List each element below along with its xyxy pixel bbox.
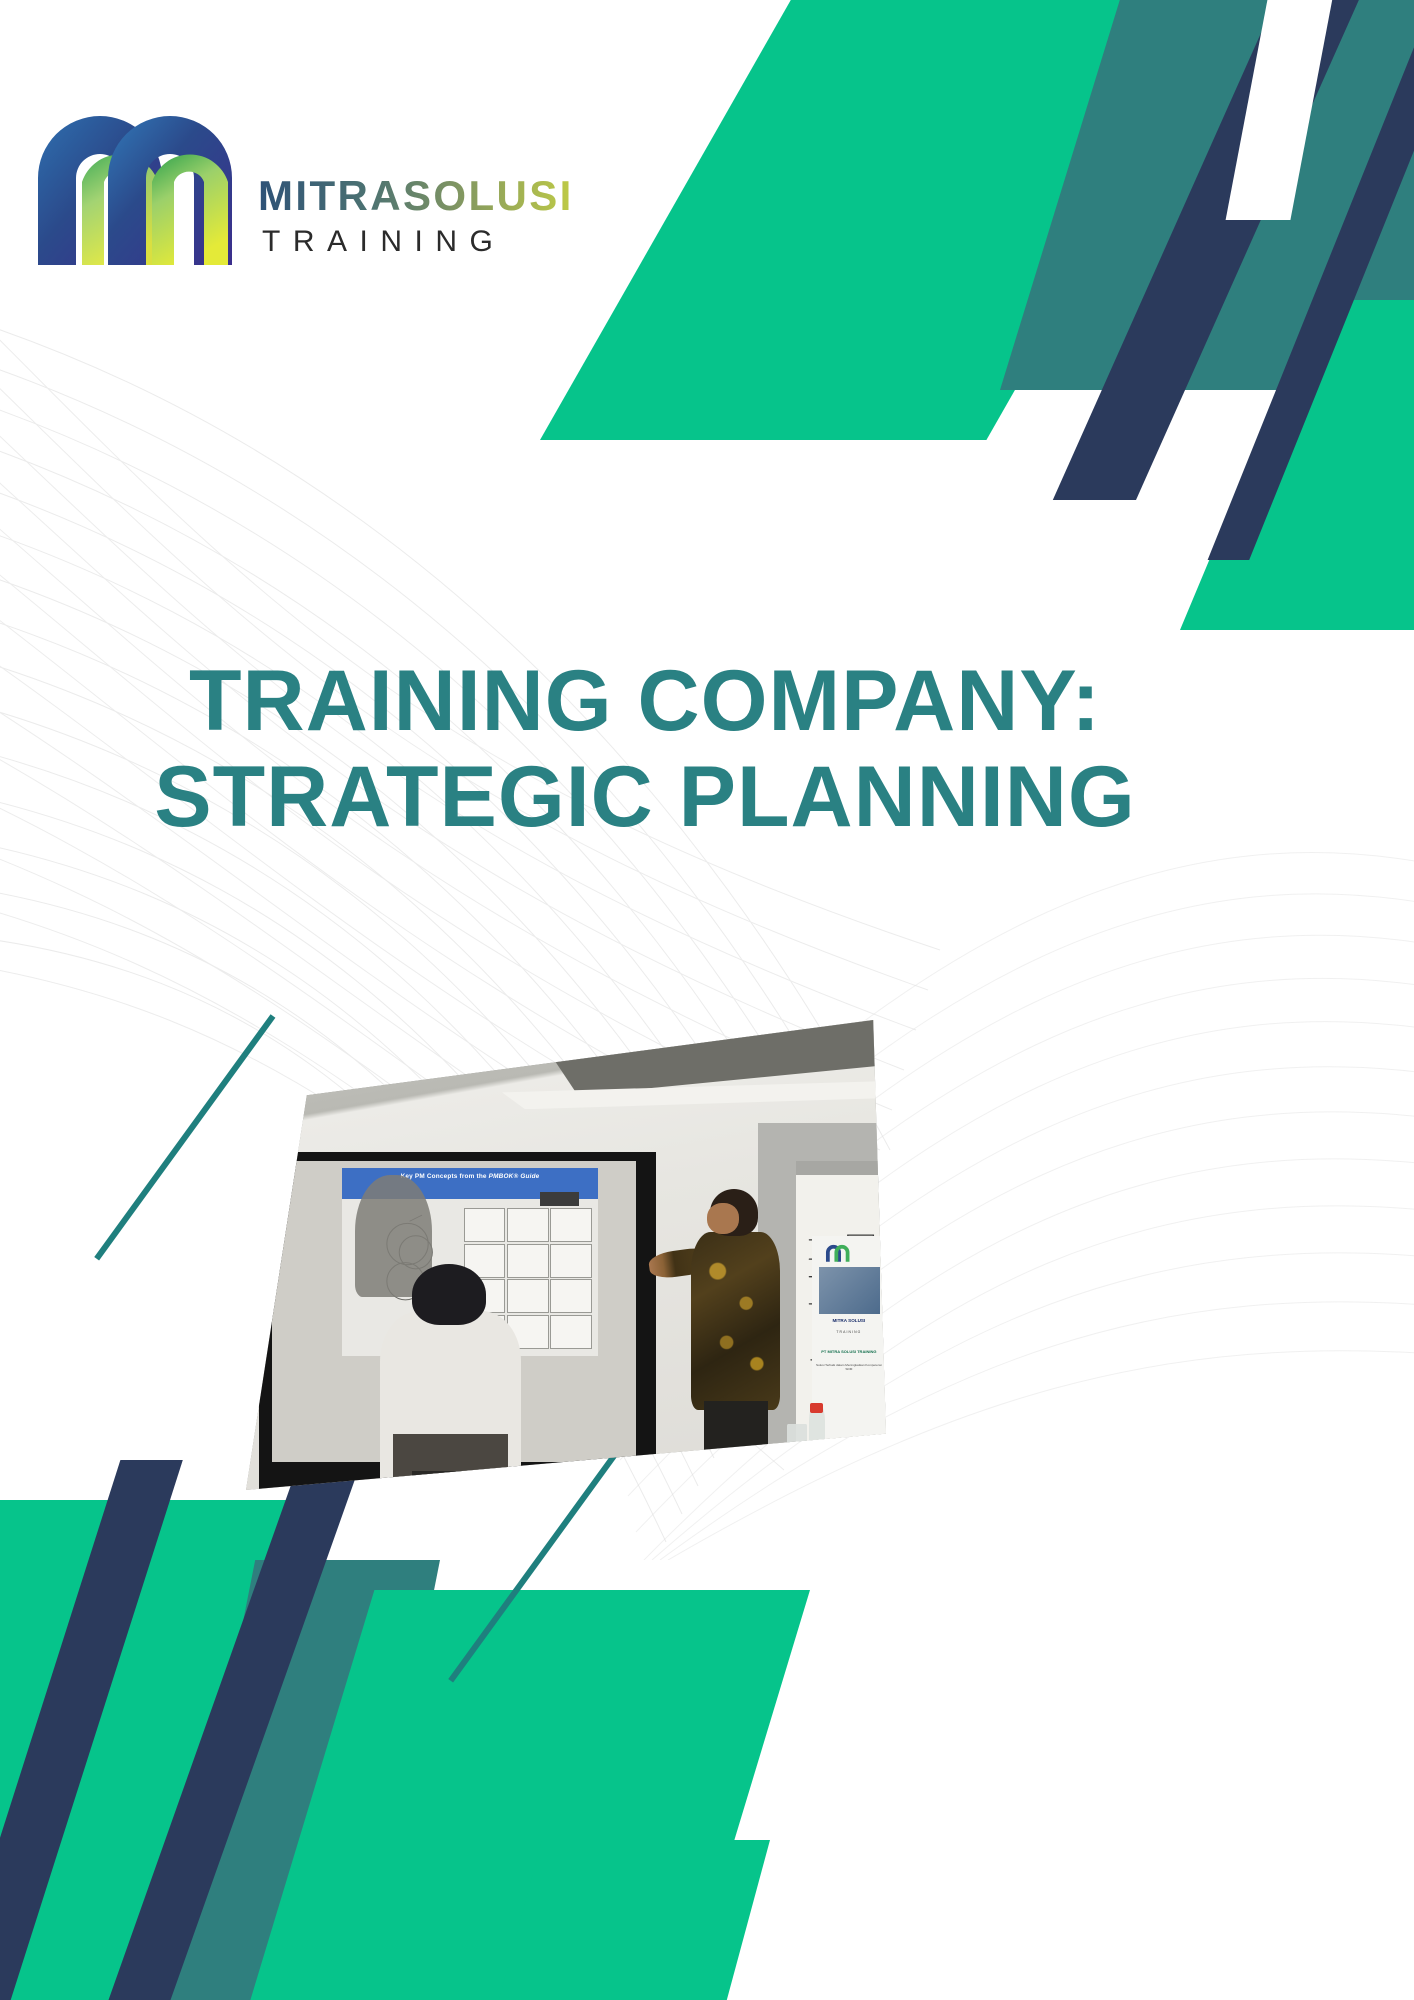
- cover-page: MITRASOLUSI TRAINING TRAINING COMPANY: S…: [0, 0, 1414, 2000]
- photo-slide-grid-cell: [507, 1208, 549, 1242]
- page-title: TRAINING COMPANY: STRATEGIC PLANNING: [0, 653, 1290, 846]
- photo-glass: [787, 1424, 807, 1462]
- photo-table: [758, 1452, 886, 1490]
- photo-slide-grid-cell: [550, 1244, 592, 1278]
- logo-wordmark-sub: TRAINING: [258, 225, 588, 259]
- photo-slide-grid-cell: [507, 1279, 549, 1313]
- photo-participant-head: [412, 1264, 486, 1325]
- photo-slide-grid-cell: [550, 1279, 592, 1313]
- page-title-line-1: TRAINING COMPANY:: [0, 653, 1290, 749]
- photo-slide-grid-cell: [550, 1208, 592, 1242]
- photo-banner-tagline: Solusi Terbaik dalam Meningkatkan Kompet…: [813, 1363, 885, 1371]
- photo-presenter-legs: [704, 1401, 768, 1490]
- page-title-line-2: STRATEGIC PLANNING: [0, 749, 1290, 845]
- logo-wordmark: MITRASOLUSI TRAINING: [258, 173, 588, 259]
- photo-banner-image: [819, 1267, 880, 1314]
- photo-slide-header-prefix: Key PM Concepts from the: [401, 1173, 489, 1180]
- photo-accent-line-top: [94, 1014, 275, 1260]
- photo-banner-logo-icon: [822, 1243, 873, 1262]
- photo-slide-header-italic: PMBOK® Guide: [489, 1173, 540, 1180]
- photo-participant-trousers: [393, 1434, 508, 1490]
- photo-slide-grid-cell: [550, 1315, 592, 1349]
- photo-plate: [761, 1457, 799, 1476]
- photo-banner-wordmark: MITRA SOLUSI: [813, 1318, 885, 1323]
- photo-slide-grid-cell: [464, 1208, 506, 1242]
- photo-presenter-face: [707, 1203, 739, 1234]
- logo-wordmark-text: MITRASOLUSI: [258, 173, 574, 219]
- photo-presenter-body: [691, 1232, 781, 1411]
- photo-slide-grid-cell: [507, 1244, 549, 1278]
- photo-slide-top-box: [540, 1192, 578, 1206]
- photo-chair: [412, 1471, 502, 1490]
- cover-photo-frame: Key PM Concepts from the PMBOK® Guide: [246, 1020, 886, 1490]
- logo-mark-icon: [30, 100, 248, 265]
- photo-banner-company: PT MITRA SOLUSI TRAINING: [813, 1349, 885, 1354]
- logo-wordmark-primary: MITRASOLUSI: [258, 173, 588, 219]
- photo-bottle: [809, 1405, 824, 1461]
- brand-logo: MITRASOLUSI TRAINING: [30, 100, 588, 265]
- photo-banner-wordmark-sub: TRAINING: [813, 1330, 885, 1334]
- photo-bottle-cap: [810, 1403, 823, 1413]
- cover-photo: Key PM Concepts from the PMBOK® Guide: [246, 1020, 886, 1490]
